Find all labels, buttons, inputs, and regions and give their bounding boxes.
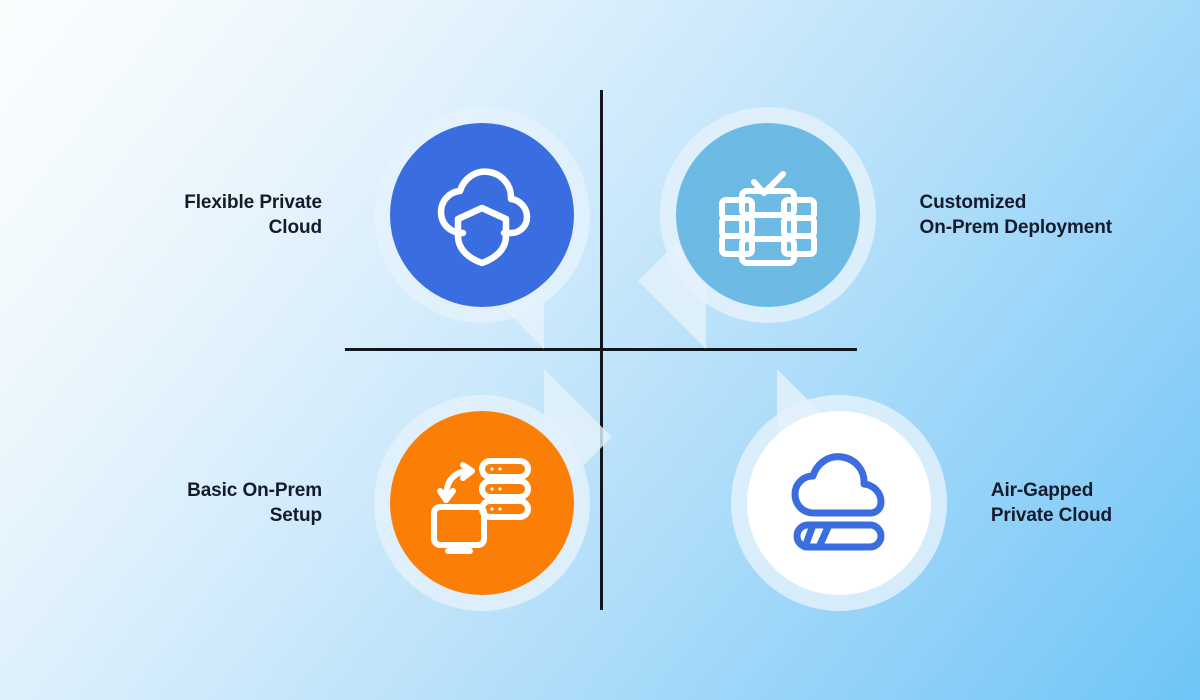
quadrant-top-left: Flexible Private Cloud	[120, 90, 590, 340]
quadrant-label-top-right: Customized On-Prem Deployment	[876, 190, 1112, 240]
quadrant-bottom-right: Air-Gapped Private Cloud	[612, 378, 1112, 628]
badge-disc	[676, 123, 860, 307]
badge-disc	[390, 411, 574, 595]
axis-horizontal-line	[345, 348, 857, 351]
badge-disc	[747, 411, 931, 595]
badge-top-left[interactable]	[374, 107, 590, 323]
cloud-shield-icon	[426, 159, 538, 271]
diagram-canvas: Flexible Private Cloud Customized On-Pre…	[0, 0, 1200, 700]
badge-bottom-right[interactable]	[731, 395, 947, 611]
quadrant-label-top-left: Flexible Private Cloud	[184, 190, 374, 240]
badge-disc	[390, 123, 574, 307]
quadrant-bottom-left: Basic On-Prem Setup	[120, 378, 590, 628]
server-grid-check-icon	[709, 156, 827, 274]
quadrant-top-right: Customized On-Prem Deployment	[612, 90, 1112, 340]
badge-bottom-left[interactable]	[374, 395, 590, 611]
quadrant-label-bottom-right: Air-Gapped Private Cloud	[947, 478, 1112, 528]
quadrant-label-bottom-left: Basic On-Prem Setup	[187, 478, 374, 528]
badge-top-right[interactable]	[660, 107, 876, 323]
cloud-airgap-icon	[783, 447, 895, 559]
monitor-server-sync-icon	[424, 445, 540, 561]
